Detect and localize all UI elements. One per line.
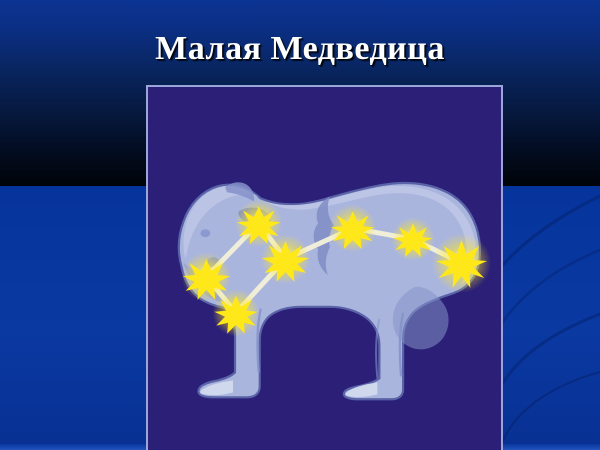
star-polaris: [432, 233, 491, 293]
star-kochab: [391, 217, 435, 261]
bear-cheek-mark: [200, 229, 210, 237]
ursa-minor-illustration: [148, 87, 501, 450]
star-eta: [212, 289, 259, 337]
slide: Малая Медведица: [0, 0, 600, 450]
constellation-image-panel: [146, 85, 503, 450]
star-epsilon: [235, 199, 282, 247]
page-title: Малая Медведица: [0, 30, 600, 68]
star-pherkad: [329, 204, 376, 252]
